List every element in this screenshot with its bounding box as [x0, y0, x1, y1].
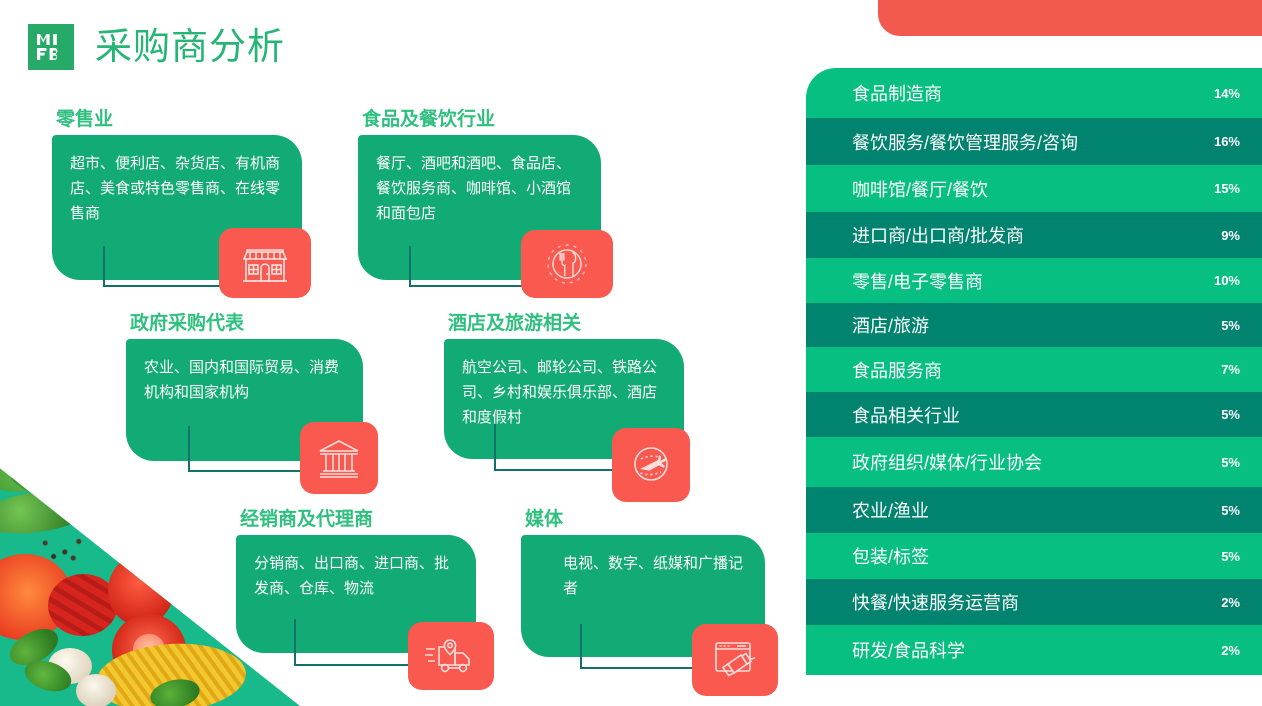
stats-row: 食品服务商7% [806, 347, 1262, 392]
storefront-icon-badge [219, 228, 311, 298]
stats-row-label: 农业/渔业 [852, 497, 1221, 523]
stats-row-value: 9% [1221, 228, 1240, 243]
stats-row-label: 食品服务商 [852, 357, 1221, 383]
stats-row-label: 进口商/出口商/批发商 [852, 222, 1221, 248]
stats-row-value: 2% [1221, 595, 1240, 610]
stats-row-value: 2% [1221, 643, 1240, 658]
stats-row: 食品制造商14% [806, 68, 1262, 118]
stats-row: 快餐/快速服务运营商2% [806, 579, 1262, 625]
stats-row-value: 5% [1221, 455, 1240, 470]
stats-row-value: 5% [1221, 318, 1240, 333]
stats-row: 餐饮服务/餐饮管理服务/咨询16% [806, 118, 1262, 165]
stats-row-label: 政府组织/媒体/行业协会 [852, 449, 1221, 475]
stats-row-label: 包装/标签 [852, 543, 1221, 569]
red-decor-bar [878, 0, 1262, 36]
stats-row-label: 食品制造商 [852, 80, 1214, 106]
stats-row-label: 零售/电子零售商 [852, 268, 1214, 294]
stats-row: 咖啡馆/餐厅/餐饮15% [806, 165, 1262, 212]
stats-row-value: 5% [1221, 407, 1240, 422]
mifb-logo-icon [28, 24, 74, 70]
card-caption: 酒店及旅游相关 [448, 308, 581, 335]
stats-row-value: 14% [1214, 86, 1240, 101]
card-caption: 媒体 [525, 504, 563, 531]
stats-row: 进口商/出口商/批发商9% [806, 212, 1262, 258]
delivery-truck-icon-badge [408, 622, 494, 690]
stats-row-label: 酒店/旅游 [852, 312, 1221, 338]
stats-row: 包装/标签5% [806, 533, 1262, 579]
stats-row: 食品相关行业5% [806, 392, 1262, 437]
stats-row-label: 快餐/快速服务运营商 [852, 589, 1221, 615]
card-caption: 零售业 [56, 104, 113, 131]
government-building-icon-badge [300, 422, 378, 494]
stats-row-value: 5% [1221, 503, 1240, 518]
stats-row: 政府组织/媒体/行业协会5% [806, 437, 1262, 487]
card-caption: 食品及餐饮行业 [362, 104, 495, 131]
stats-row: 研发/食品科学2% [806, 625, 1262, 675]
stats-row: 酒店/旅游5% [806, 303, 1262, 347]
stats-row-label: 食品相关行业 [852, 402, 1221, 428]
stats-row-value: 10% [1214, 273, 1240, 288]
stats-row: 零售/电子零售商10% [806, 258, 1262, 303]
page-title: 采购商分析 [95, 24, 285, 70]
stats-row-value: 7% [1221, 362, 1240, 377]
stats-row-label: 咖啡馆/餐厅/餐饮 [852, 176, 1214, 202]
airplane-globe-icon-badge [612, 428, 690, 502]
purchaser-breakdown-chart: 食品制造商14%餐饮服务/餐饮管理服务/咨询16%咖啡馆/餐厅/餐饮15%进口商… [806, 0, 1262, 706]
stats-row: 农业/渔业5% [806, 487, 1262, 533]
stats-row-label: 餐饮服务/餐饮管理服务/咨询 [852, 129, 1214, 155]
stats-row-list: 食品制造商14%餐饮服务/餐饮管理服务/咨询16%咖啡馆/餐厅/餐饮15%进口商… [806, 68, 1262, 675]
plate-cutlery-icon-badge [521, 230, 613, 298]
card-caption: 经销商及代理商 [240, 504, 373, 531]
stats-row-label: 研发/食品科学 [852, 637, 1221, 663]
stats-row-value: 15% [1214, 181, 1240, 196]
card-caption: 政府采购代表 [130, 308, 244, 335]
slide-canvas: 采购商分析 零售业 超市、便利店、杂货店、有机商店、美食或特色零售商、在线零售商… [0, 0, 1262, 706]
stats-row-value: 5% [1221, 549, 1240, 564]
megaphone-browser-icon-badge [692, 624, 778, 696]
stats-row-value: 16% [1214, 134, 1240, 149]
